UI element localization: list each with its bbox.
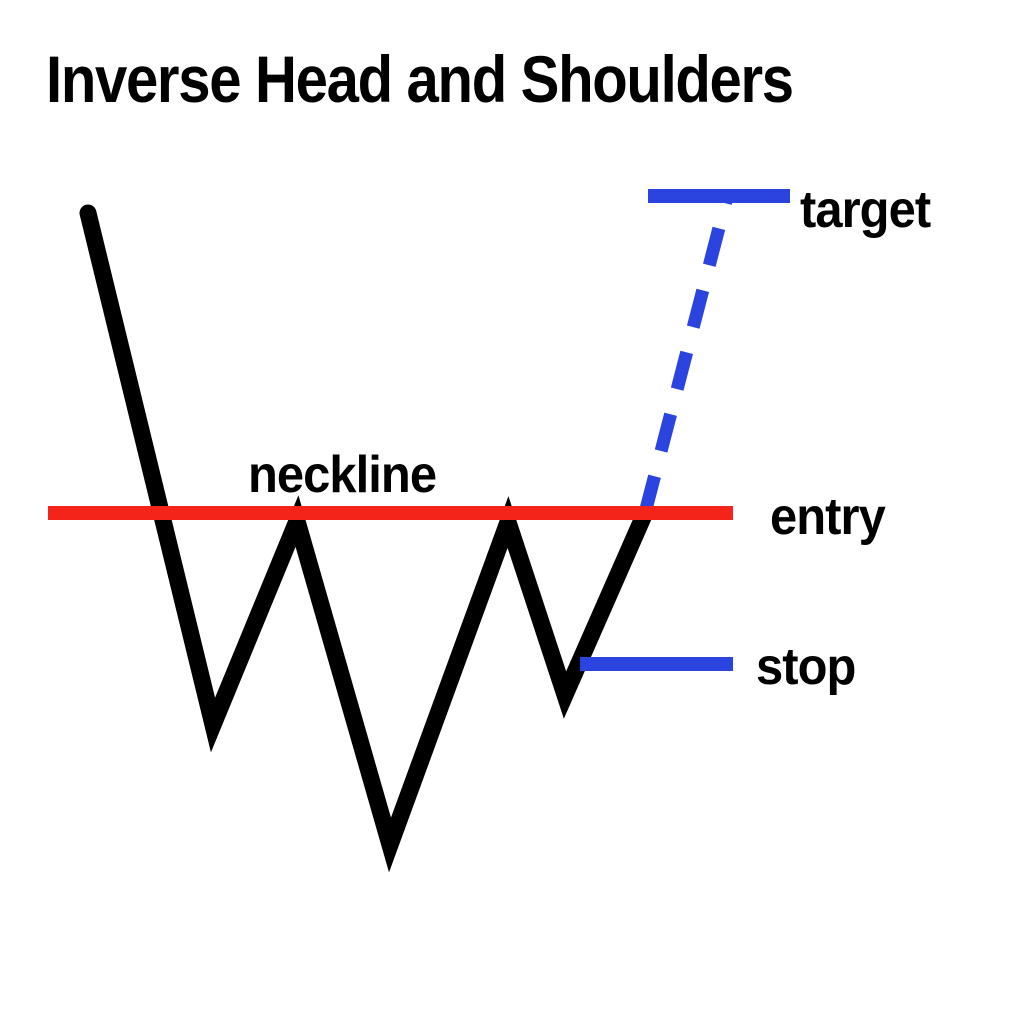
neckline-label: neckline <box>248 449 436 501</box>
stop-label: stop <box>756 641 855 693</box>
chart-title: Inverse Head and Shoulders <box>46 46 793 112</box>
target-projection-dashed-line <box>645 197 727 513</box>
entry-label: entry <box>770 491 885 543</box>
chart-canvas: Inverse Head and Shoulders neckline targ… <box>0 0 1024 1024</box>
price-line <box>88 213 645 845</box>
target-label: target <box>800 184 930 236</box>
